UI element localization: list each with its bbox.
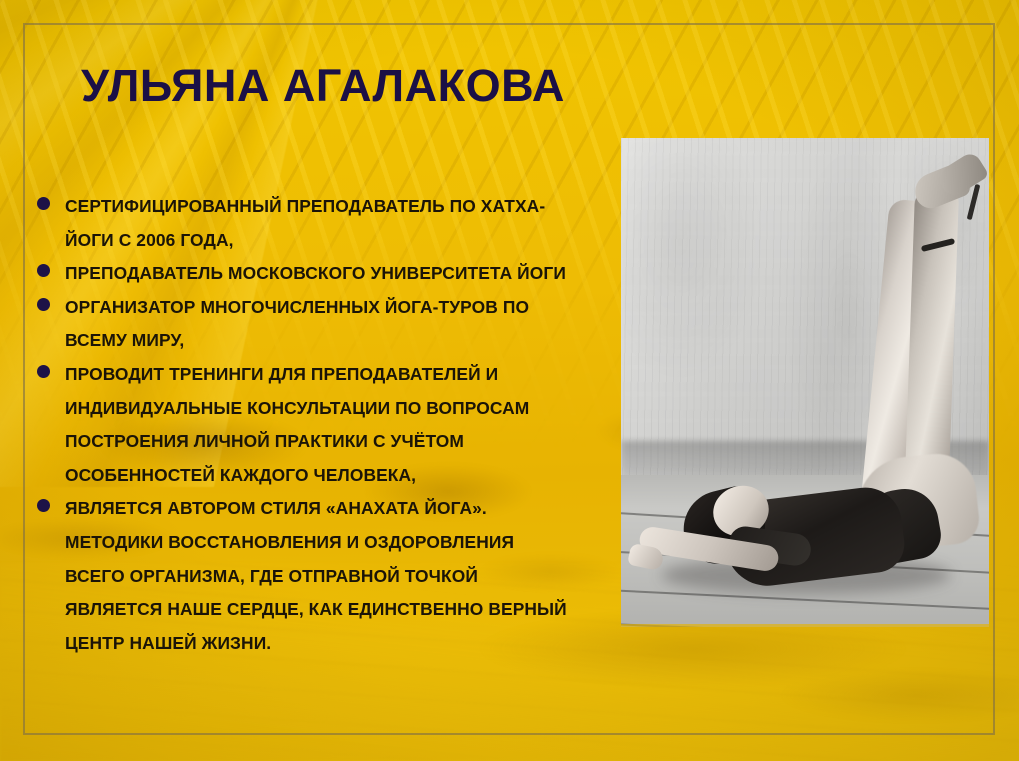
list-item-line: СЕРТИФИЦИРОВАННЫЙ ПРЕПОДАВАТЕЛЬ ПО ХАТХА…	[65, 190, 594, 224]
list-item-line: ВСЕМУ МИРУ,	[65, 324, 594, 358]
bullet-dot-icon	[37, 264, 50, 277]
list-item-line: ИНДИВИДУАЛЬНЫЕ КОНСУЛЬТАЦИИ ПО ВОПРОСАМ	[65, 392, 594, 426]
list-item: ПРЕПОДАВАТЕЛЬ МОСКОВСКОГО УНИВЕРСИТЕТА Й…	[34, 257, 594, 291]
list-item-text: ПРОВОДИТ ТРЕНИНГИ ДЛЯ ПРЕПОДАВАТЕЛЕЙ ИИН…	[65, 358, 594, 492]
list-item-line: ОРГАНИЗАТОР МНОГОЧИСЛЕННЫХ ЙОГА-ТУРОВ ПО	[65, 291, 594, 325]
list-item-text: ЯВЛЯЕТСЯ АВТОРОМ СТИЛЯ «АНАХАТА ЙОГА».МЕ…	[65, 492, 594, 660]
list-item-line: ЙОГИ С 2006 ГОДА,	[65, 224, 594, 258]
list-item: ОРГАНИЗАТОР МНОГОЧИСЛЕННЫХ ЙОГА-ТУРОВ ПО…	[34, 291, 594, 358]
bullet-dot-icon	[37, 365, 50, 378]
bullet-dot-icon	[37, 499, 50, 512]
list-item: СЕРТИФИЦИРОВАННЫЙ ПРЕПОДАВАТЕЛЬ ПО ХАТХА…	[34, 190, 594, 257]
bullet-dot-icon	[37, 197, 50, 210]
list-item-line: ЯВЛЯЕТСЯ НАШЕ СЕРДЦЕ, КАК ЕДИНСТВЕННО ВЕ…	[65, 593, 594, 627]
list-item-line: ПРЕПОДАВАТЕЛЬ МОСКОВСКОГО УНИВЕРСИТЕТА Й…	[65, 257, 594, 291]
list-item-text: СЕРТИФИЦИРОВАННЫЙ ПРЕПОДАВАТЕЛЬ ПО ХАТХА…	[65, 190, 594, 257]
bullet-list: СЕРТИФИЦИРОВАННЫЙ ПРЕПОДАВАТЕЛЬ ПО ХАТХА…	[34, 190, 594, 660]
list-item-line: МЕТОДИКИ ВОССТАНОВЛЕНИЯ И ОЗДОРОВЛЕНИЯ	[65, 526, 594, 560]
page-title: УЛЬЯНА АГАЛАКОВА	[81, 63, 565, 108]
list-item-line: ОСОБЕННОСТЕЙ КАЖДОГО ЧЕЛОВЕКА,	[65, 459, 594, 493]
photo-bottom-edge	[621, 624, 989, 627]
list-item-line: ЯВЛЯЕТСЯ АВТОРОМ СТИЛЯ «АНАХАТА ЙОГА».	[65, 492, 594, 526]
list-item: ЯВЛЯЕТСЯ АВТОРОМ СТИЛЯ «АНАХАТА ЙОГА».МЕ…	[34, 492, 594, 660]
list-item-line: ВСЕГО ОРГАНИЗМА, ГДЕ ОТПРАВНОЙ ТОЧКОЙ	[65, 560, 594, 594]
list-item-text: ОРГАНИЗАТОР МНОГОЧИСЛЕННЫХ ЙОГА-ТУРОВ ПО…	[65, 291, 594, 358]
bullet-dot-icon	[37, 298, 50, 311]
list-item-line: ЦЕНТР НАШЕЙ ЖИЗНИ.	[65, 627, 594, 661]
list-item-text: ПРЕПОДАВАТЕЛЬ МОСКОВСКОГО УНИВЕРСИТЕТА Й…	[65, 257, 594, 291]
portrait-photo	[621, 138, 989, 627]
list-item-line: ПОСТРОЕНИЯ ЛИЧНОЙ ПРАКТИКИ С УЧЁТОМ	[65, 425, 594, 459]
list-item: ПРОВОДИТ ТРЕНИНГИ ДЛЯ ПРЕПОДАВАТЕЛЕЙ ИИН…	[34, 358, 594, 492]
list-item-line: ПРОВОДИТ ТРЕНИНГИ ДЛЯ ПРЕПОДАВАТЕЛЕЙ И	[65, 358, 594, 392]
presentation-slide: УЛЬЯНА АГАЛАКОВА СЕРТИФИЦИРОВАННЫЙ ПРЕПО…	[0, 0, 1019, 761]
